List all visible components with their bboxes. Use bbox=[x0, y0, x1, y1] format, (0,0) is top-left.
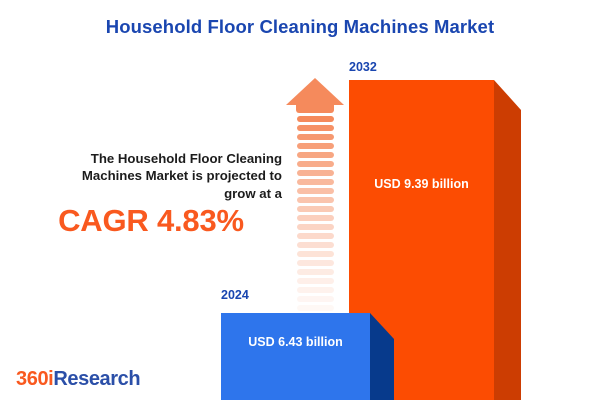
arrow-stripe bbox=[297, 269, 334, 275]
bar-2032-side bbox=[494, 80, 521, 400]
arrow-stripe bbox=[297, 215, 334, 221]
bar-2024: USD 6.43 billion bbox=[221, 313, 370, 400]
arrow-stripe bbox=[297, 287, 334, 293]
bar-year-label-2024: 2024 bbox=[221, 288, 249, 302]
arrow-stripe bbox=[297, 305, 334, 311]
logo-text-research: Research bbox=[53, 368, 140, 390]
arrow-stripe bbox=[297, 197, 334, 203]
arrow-stripe bbox=[297, 161, 334, 167]
arrow-neck-shape bbox=[296, 104, 334, 113]
arrow-stripe bbox=[297, 206, 334, 212]
bar-2024-value-label: USD 6.43 billion bbox=[221, 335, 370, 349]
arrow-stripe bbox=[297, 143, 334, 149]
growth-arrow-icon bbox=[286, 78, 344, 296]
arrow-stripe bbox=[297, 224, 334, 230]
arrow-stripe bbox=[297, 296, 334, 302]
arrow-stripe bbox=[297, 134, 334, 140]
arrow-stripe bbox=[297, 278, 334, 284]
arrow-stripe bbox=[297, 116, 334, 122]
logo-text-360: 360 bbox=[16, 368, 48, 390]
arrow-stripe bbox=[297, 125, 334, 131]
growth-statement: The Household Floor Cleaning Machines Ma… bbox=[20, 150, 282, 202]
bar-year-label-2032: 2032 bbox=[349, 60, 377, 74]
arrow-stripe bbox=[297, 179, 334, 185]
bar-2032-value-label: USD 9.39 billion bbox=[349, 177, 494, 191]
arrow-stripe bbox=[297, 233, 334, 239]
page-title: Household Floor Cleaning Machines Market bbox=[0, 16, 600, 38]
bar-2024-face bbox=[221, 313, 370, 400]
arrow-head-shape bbox=[286, 78, 344, 105]
arrow-stripe bbox=[297, 242, 334, 248]
brand-logo: 360iResearch bbox=[16, 368, 140, 391]
cagr-value: CAGR 4.83% bbox=[20, 203, 282, 239]
arrow-stripe bbox=[297, 188, 334, 194]
arrow-stripe bbox=[297, 152, 334, 158]
statement-line-2: Machines Market is projected to bbox=[82, 168, 282, 183]
arrow-stripe bbox=[297, 170, 334, 176]
arrow-stripe bbox=[297, 260, 334, 266]
arrow-stripe bbox=[297, 251, 334, 257]
infographic-canvas: Household Floor Cleaning Machines Market… bbox=[0, 0, 600, 400]
statement-line-3: grow at a bbox=[224, 186, 282, 201]
statement-line-1: The Household Floor Cleaning bbox=[91, 151, 282, 166]
